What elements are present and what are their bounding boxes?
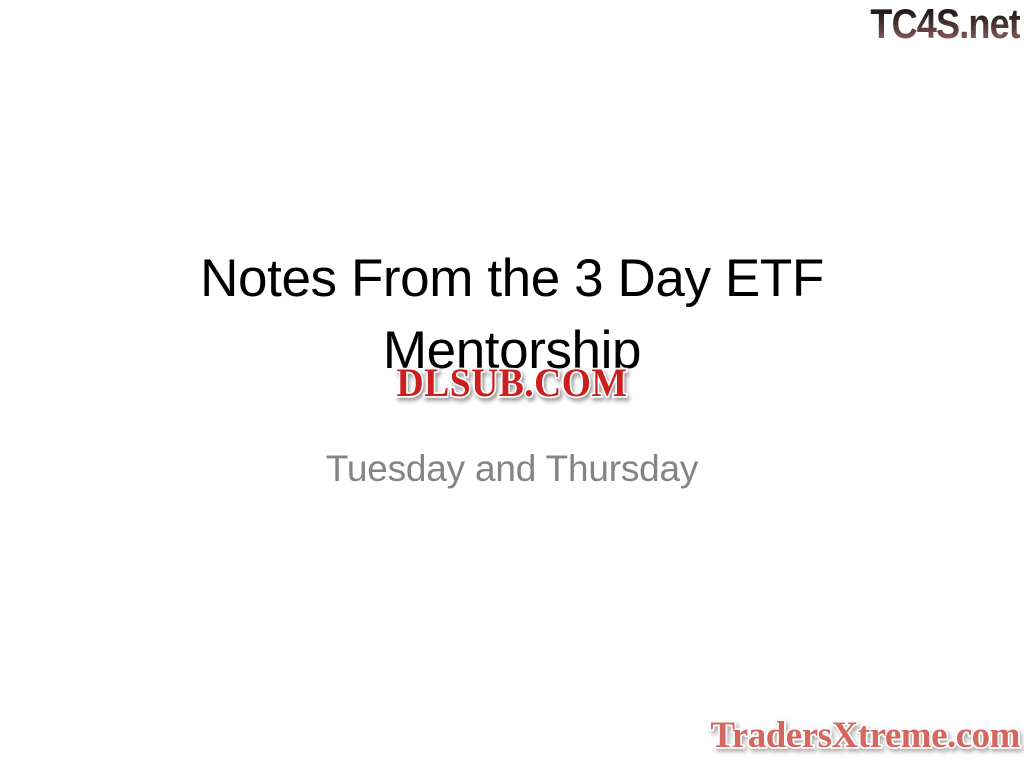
slide-subtitle: Tuesday and Thursday [0, 446, 1024, 492]
tc4s-watermark: TC4S.net [870, 1, 1020, 47]
slide-title-line-1: Notes From the 3 Day ETF [0, 243, 1024, 315]
dlsub-watermark: DLSUB.COM [397, 362, 628, 404]
presentation-slide: Notes From the 3 Day ETF Mentorship Tues… [0, 0, 1024, 768]
tradersxtreme-watermark: TradersXtreme.com [710, 716, 1020, 756]
